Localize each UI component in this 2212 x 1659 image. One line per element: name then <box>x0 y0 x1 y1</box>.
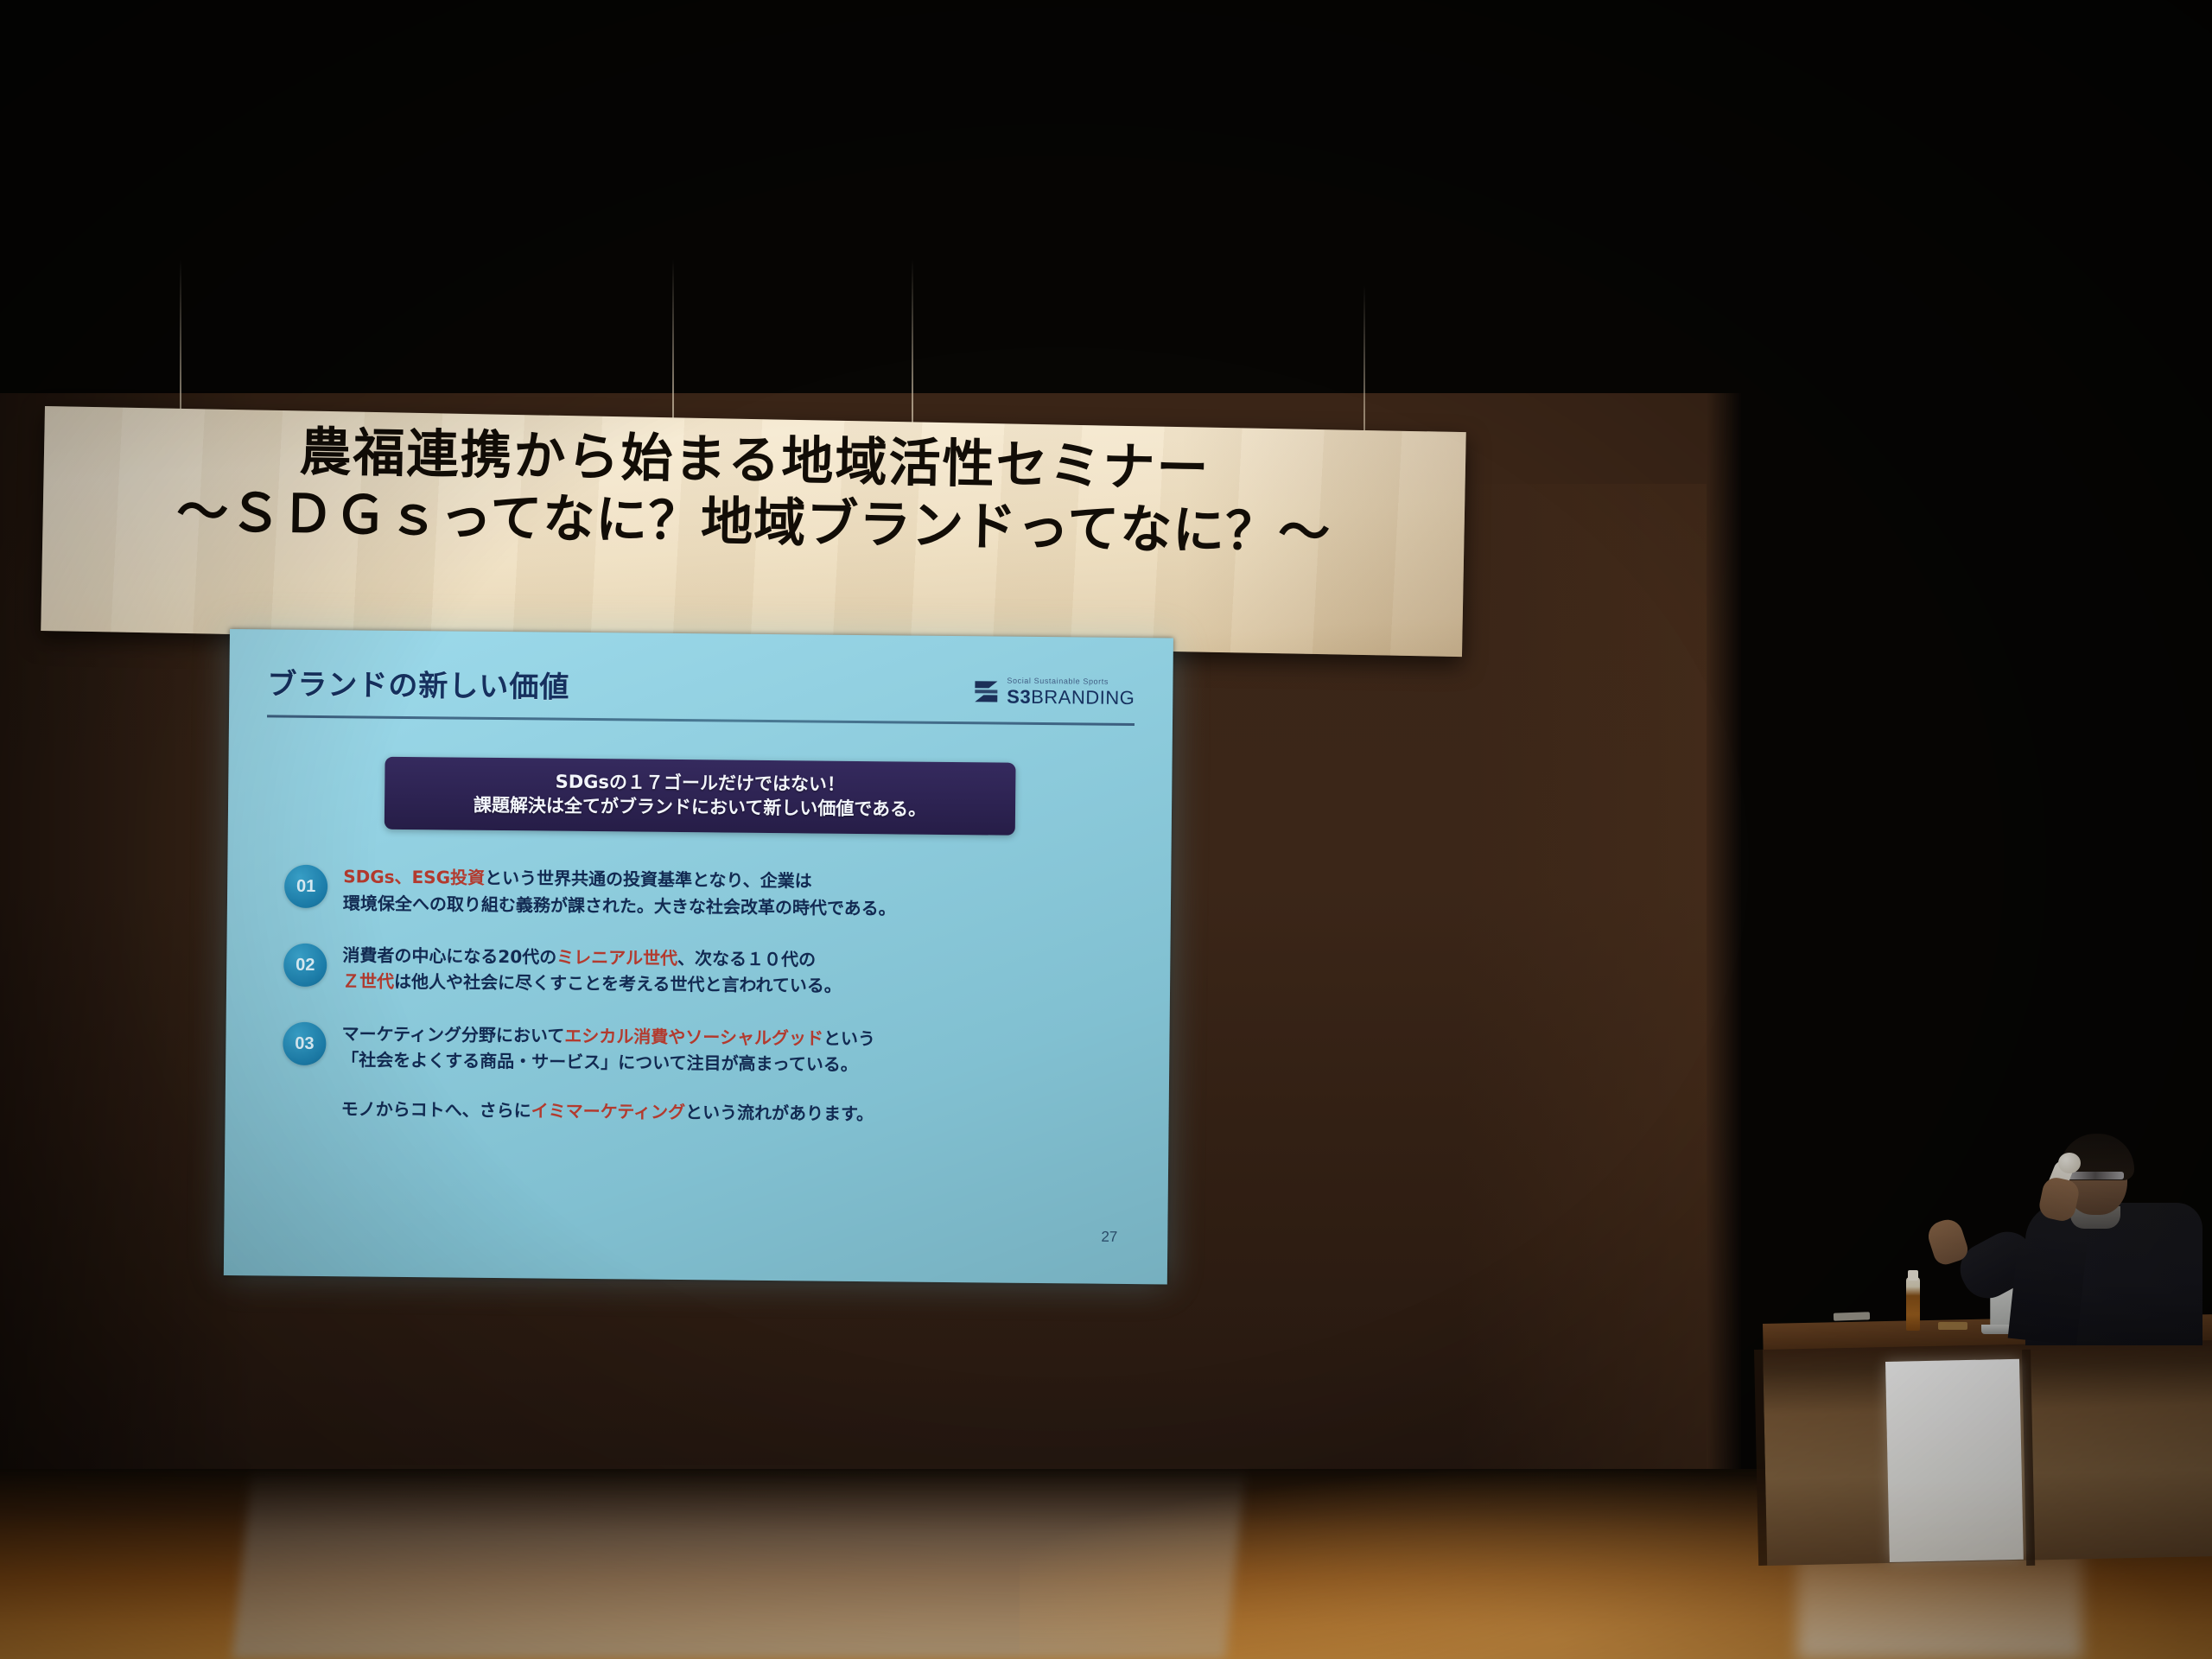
event-banner-text: 農福連携から始まる地域活性セミナー 〜ＳＤＧｓってなに？地域ブランドってなに？〜 <box>42 406 1466 565</box>
banner-hanging-wire-1 <box>180 259 181 415</box>
slide-page-number: 27 <box>1101 1229 1117 1246</box>
list-item-text: 消費者の中心になる20代のミレニアル世代、次なる１０代の Ｚ世代は他人や社会に尽… <box>342 942 842 999</box>
list-item-line1-pre: 消費者の中心になる20代の <box>342 944 556 967</box>
list-item-line1-rest: という世界共通の投資基準となり、企業は <box>485 868 812 892</box>
list-item-line2: Ｚ世代は他人や社会に尽くすことを考える世代と言われている。 <box>342 969 842 1000</box>
list-item: 01 SDGs、ESG投資という世界共通の投資基準となり、企業は 環境保全への取… <box>284 863 1134 924</box>
podium-white-panel <box>1885 1359 2024 1562</box>
s3-branding-logo: Social Sustainable Sports S3BRANDING <box>973 677 1135 708</box>
list-item-highlight: SDGs、ESG投資 <box>343 867 485 889</box>
presenter-shoulder <box>2008 1230 2088 1345</box>
list-item-text: SDGs、ESG投資という世界共通の投資基準となり、企業は 環境保全への取り組む… <box>343 864 896 922</box>
slide-title: ブランドの新しい価値 <box>267 660 569 705</box>
projected-slide: ブランドの新しい価値 Social Sustainable Sports S3B… <box>224 629 1173 1284</box>
backdrop-wall-right-light <box>1460 484 1719 1486</box>
backdrop-wall-right-edge <box>1707 393 1741 1486</box>
slide-callout-box: SDGsの１７ゴールだけではない！ 課題解決は全てがブランドにおいて新しい価値で… <box>385 757 1016 836</box>
list-item-line1-pre: マーケティング分野において <box>341 1023 564 1046</box>
list-item-line2: 「社会をよくする商品・サービス」について注目が高まっている。 <box>341 1046 875 1077</box>
stage-photo-scene: 農福連携から始まる地域活性セミナー 〜ＳＤＧｓってなに？地域ブランドってなに？〜… <box>0 0 2212 1659</box>
slide-header-divider <box>267 715 1135 726</box>
s3-logo-name: S3BRANDING <box>1007 688 1135 708</box>
list-item: 02 消費者の中心になる20代のミレニアル世代、次なる１０代の Ｚ世代は他人や社… <box>283 942 1133 1002</box>
list-item-line1-rest: という <box>823 1027 875 1049</box>
list-item-line2: 環境保全への取り組む義務が課された。大きな社会改革の時代である。 <box>343 890 896 922</box>
list-item-line1-rest: 、次なる１０代の <box>677 948 816 970</box>
slide-header: ブランドの新しい価値 Social Sustainable Sports S3B… <box>267 660 1135 711</box>
slide-content: ブランドの新しい価値 Social Sustainable Sports S3B… <box>224 629 1173 1284</box>
s3-logo-text: Social Sustainable Sports S3BRANDING <box>1007 677 1135 708</box>
slide-item-list: 01 SDGs、ESG投資という世界共通の投資基準となり、企業は 環境保全への取… <box>264 863 1134 1129</box>
list-item-number-badge: 03 <box>283 1021 326 1065</box>
podium-paper-left <box>1834 1312 1870 1320</box>
list-item-text: マーケティング分野においてエシカル消費やソーシャルグッドという 「社会をよくする… <box>341 1020 876 1127</box>
presenter-glasses-icon <box>2067 1172 2124 1179</box>
list-item-number-badge: 02 <box>283 944 327 987</box>
list-item: 03 マーケティング分野においてエシカル消費やソーシャルグッドという 「社会をよ… <box>283 1020 1132 1128</box>
s3-logo-name-light: BRANDING <box>1031 686 1135 709</box>
microphone-head-icon <box>2058 1153 2081 1173</box>
banner-hanging-wire-2 <box>672 259 674 432</box>
podium-small-object <box>1938 1322 1967 1330</box>
s3-logo-name-bold: S3 <box>1007 686 1031 708</box>
list-item-number-badge: 01 <box>284 865 327 908</box>
banner-hanging-wire-3 <box>912 259 913 442</box>
list-item-extra-rest: という流れがあります。 <box>685 1102 874 1124</box>
list-item-line2-rest: は他人や社会に尽くすことを考える世代と言われている。 <box>394 971 842 996</box>
list-item-extra-pre: モノからコトへ、さらに <box>341 1098 531 1121</box>
water-bottle <box>1906 1277 1920 1331</box>
event-banner: 農福連携から始まる地域活性セミナー 〜ＳＤＧｓってなに？地域ブランドってなに？〜 <box>41 406 1465 657</box>
list-item-highlight: ミレニアル世代 <box>556 947 677 969</box>
wooden-podium <box>1763 1324 2212 1566</box>
list-item-highlight: エシカル消費やソーシャルグッド <box>564 1026 823 1049</box>
list-item-highlight-2: Ｚ世代 <box>342 971 394 993</box>
list-item-extra-line: モノからコトへ、さらにイミマーケティングという流れがあります。 <box>341 1096 875 1127</box>
slide-callout-line2: 課題解決は全てがブランドにおいて新しい価値である。 <box>400 792 1000 823</box>
s3-logo-tagline: Social Sustainable Sports <box>1007 677 1135 686</box>
water-bottle-cap <box>1908 1270 1918 1281</box>
list-item-extra-highlight: イミマーケティング <box>531 1100 686 1122</box>
s3-logo-mark-icon <box>973 678 999 704</box>
presenter-speaker <box>2013 1141 2212 1339</box>
